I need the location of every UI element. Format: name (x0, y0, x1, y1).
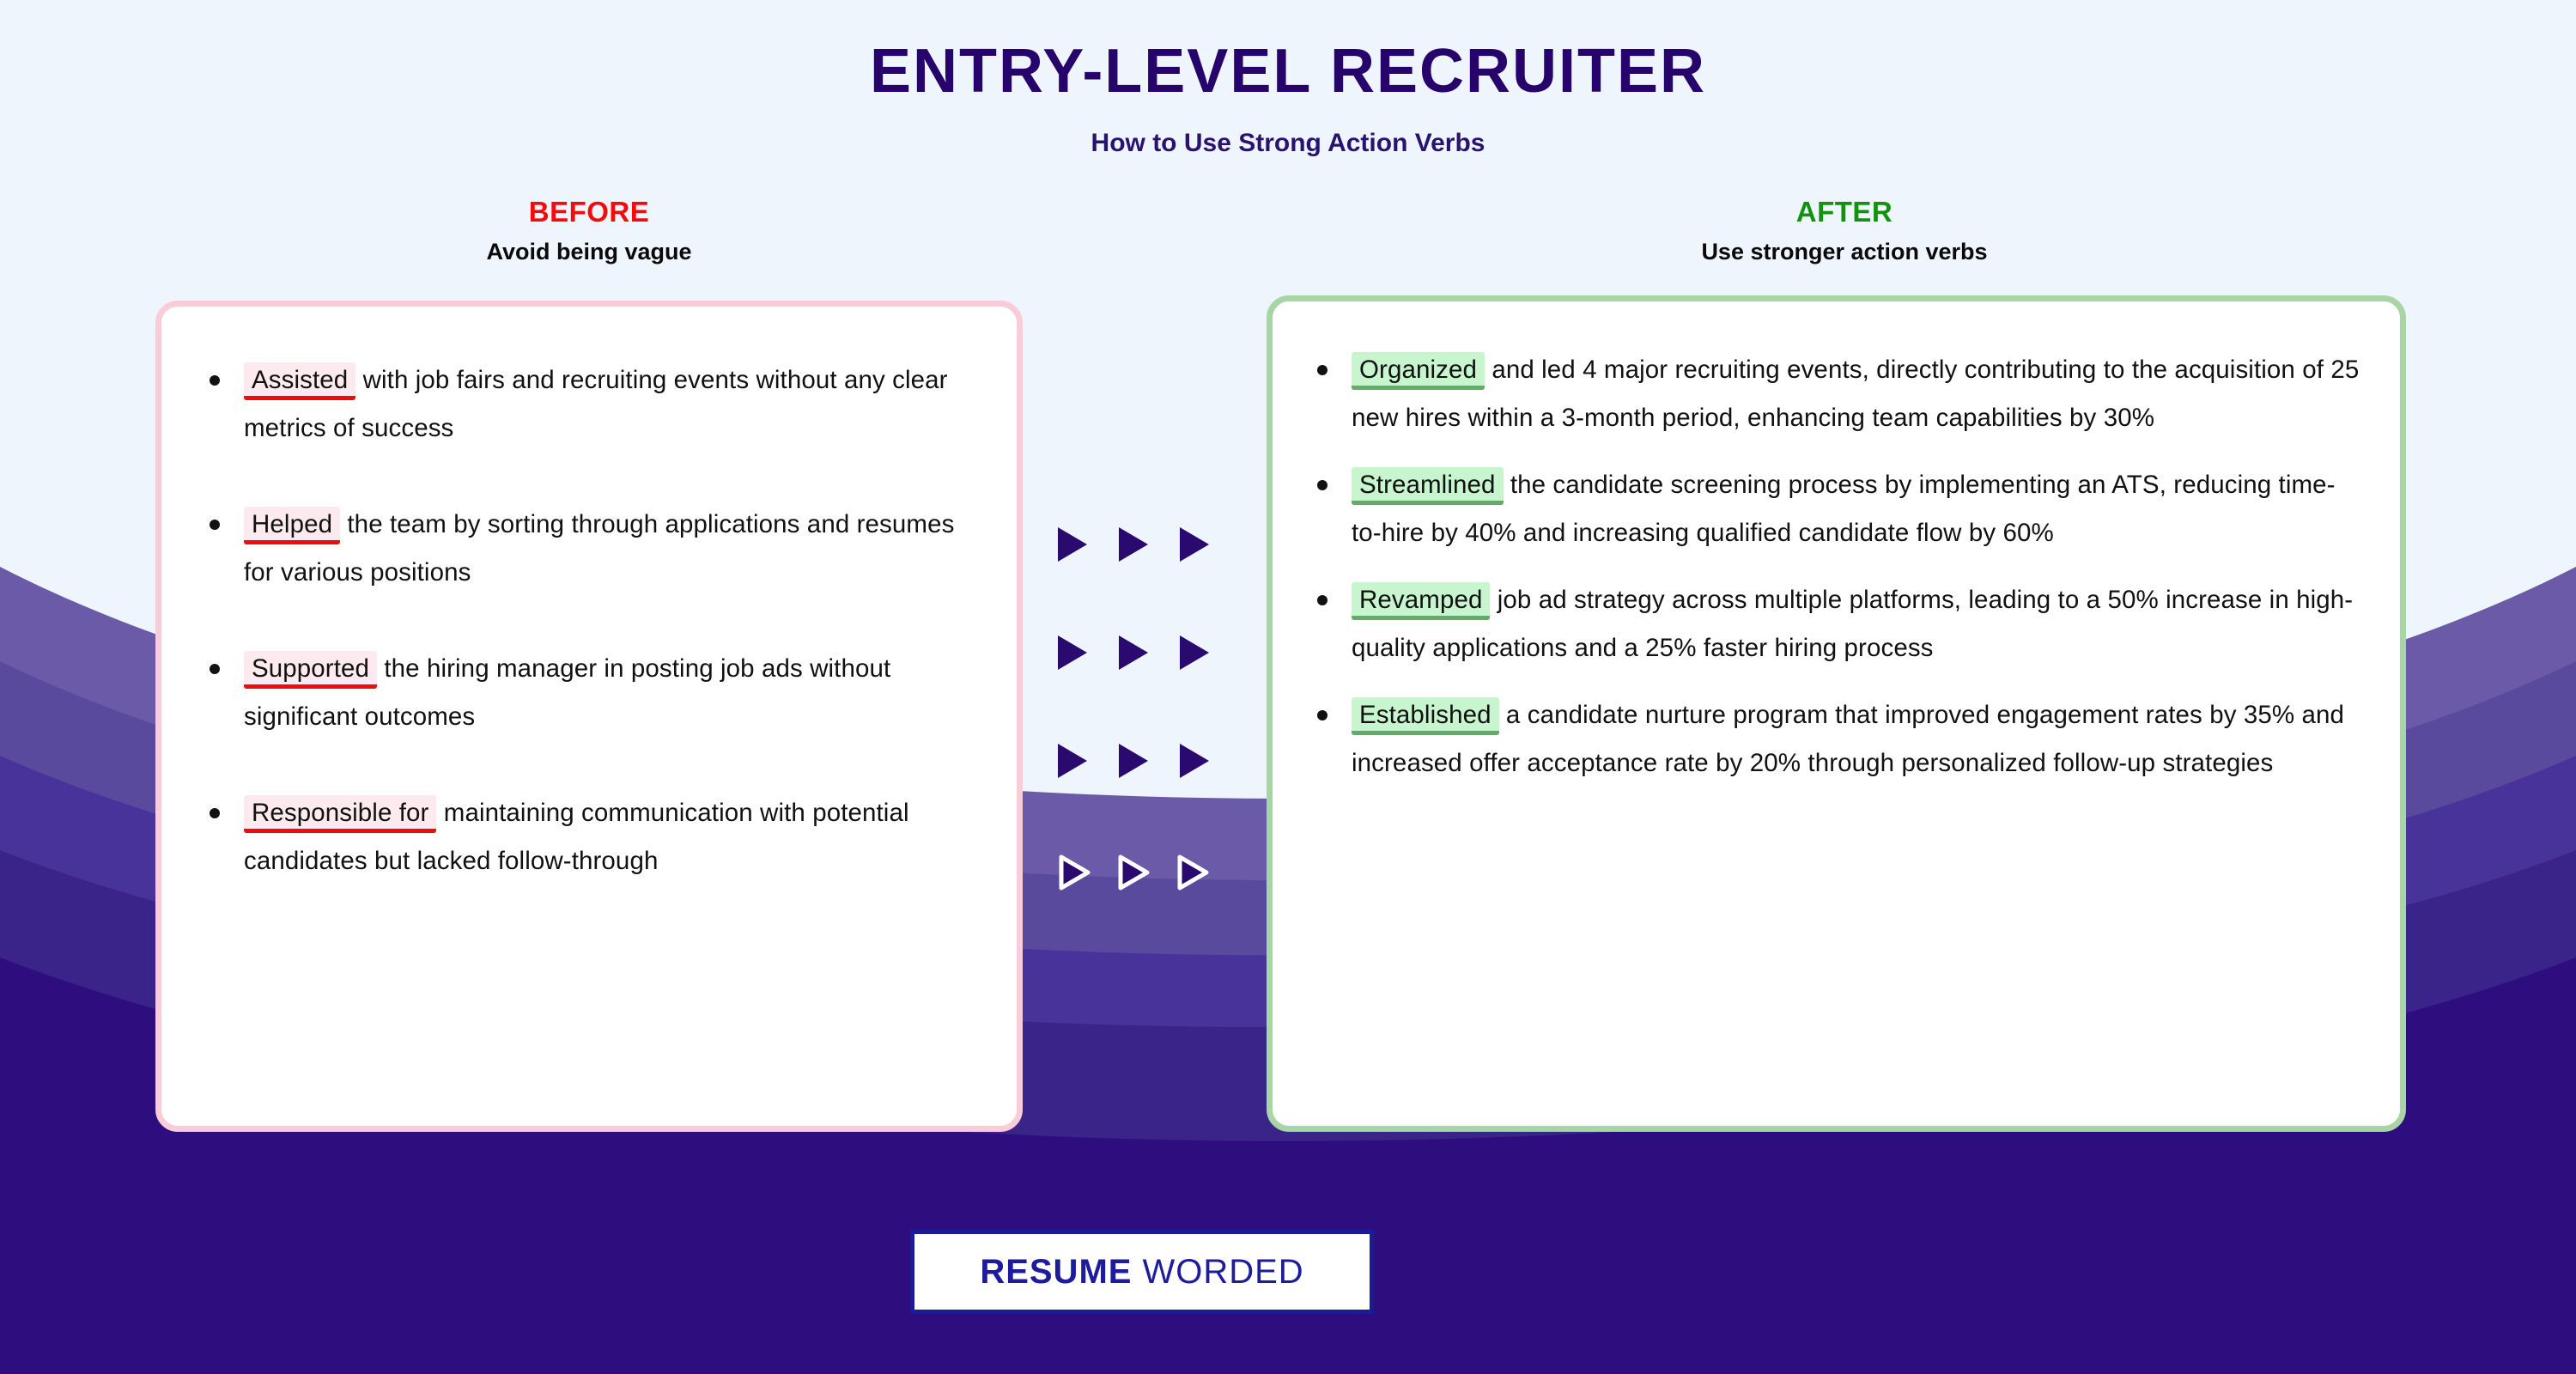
bullet-dot-icon (210, 520, 220, 530)
arrow-row-4 (1058, 854, 1209, 891)
weak-verb: Responsible for (244, 795, 436, 833)
list-item: Revamped job ad strategy across multiple… (1310, 576, 2364, 672)
arrow-row-2 (1058, 635, 1209, 670)
triangle-right-icon (1058, 527, 1087, 562)
list-item: Assisted with job fairs and recruiting e… (203, 356, 982, 453)
triangle-right-icon (1176, 854, 1209, 891)
triangle-right-icon (1180, 635, 1209, 670)
weak-verb: Assisted (244, 362, 355, 400)
after-column-header: AFTER Use stronger action verbs (1415, 196, 2274, 265)
triangle-right-icon (1180, 527, 1209, 562)
before-column-header: BEFORE Avoid being vague (160, 196, 1018, 265)
bullet-text: and led 4 major recruiting events, direc… (1352, 356, 2359, 432)
logo-word-primary: RESUME (980, 1253, 1132, 1292)
list-item: Organized and led 4 major recruiting eve… (1310, 346, 2364, 442)
strong-verb: Revamped (1352, 582, 1490, 620)
bullet-dot-icon (1317, 595, 1327, 605)
strong-verb: Established (1352, 697, 1499, 735)
bullet-text: job ad strategy across multiple platform… (1352, 586, 2353, 662)
arrow-row-1 (1058, 527, 1209, 562)
before-bullet-list: Assisted with job fairs and recruiting e… (161, 307, 1017, 885)
page-subtitle: How to Use Strong Action Verbs (0, 106, 2576, 158)
triangle-right-icon (1117, 854, 1150, 891)
infographic-canvas: ENTRY-LEVEL RECRUITER How to Use Strong … (0, 0, 2576, 1374)
bullet-dot-icon (210, 664, 220, 674)
page-title: ENTRY-LEVEL RECRUITER (0, 0, 2576, 106)
bullet-dot-icon (1317, 365, 1327, 375)
weak-verb: Helped (244, 507, 340, 544)
triangle-right-icon (1119, 527, 1148, 562)
after-hint: Use stronger action verbs (1415, 228, 2274, 265)
bullet-dot-icon (210, 808, 220, 818)
after-bullet-list: Organized and led 4 major recruiting eve… (1273, 301, 2400, 787)
bullet-dot-icon (1317, 710, 1327, 720)
triangle-right-icon (1058, 744, 1087, 778)
bullet-dot-icon (1317, 480, 1327, 490)
strong-verb: Streamlined (1352, 467, 1504, 505)
before-kicker: BEFORE (160, 196, 1018, 228)
list-item: Helped the team by sorting through appli… (203, 501, 982, 597)
list-item: Established a candidate nurture program … (1310, 691, 2364, 787)
list-item: Supported the hiring manager in posting … (203, 645, 982, 741)
before-card: Assisted with job fairs and recruiting e… (155, 301, 1023, 1132)
triangle-right-icon (1058, 635, 1087, 670)
triangle-right-icon (1119, 635, 1148, 670)
bullet-text: a candidate nurture program that improve… (1352, 701, 2344, 777)
logo-word-secondary: WORDED (1132, 1253, 1303, 1292)
weak-verb: Supported (244, 651, 377, 689)
list-item: Responsible for maintaining communicatio… (203, 789, 982, 885)
bullet-dot-icon (210, 375, 220, 386)
arrow-row-3 (1058, 744, 1209, 778)
before-hint: Avoid being vague (160, 228, 1018, 265)
strong-verb: Organized (1352, 352, 1485, 390)
header: ENTRY-LEVEL RECRUITER How to Use Strong … (0, 0, 2576, 158)
bullet-text: the team by sorting through applications… (244, 510, 954, 587)
resume-worded-logo[interactable]: RESUMEWORDED (910, 1230, 1374, 1314)
triangle-right-icon (1058, 854, 1091, 891)
after-card: Organized and led 4 major recruiting eve… (1267, 295, 2406, 1132)
list-item: Streamlined the candidate screening proc… (1310, 461, 2364, 557)
triangle-right-icon (1119, 744, 1148, 778)
triangle-right-icon (1180, 744, 1209, 778)
after-kicker: AFTER (1415, 196, 2274, 228)
